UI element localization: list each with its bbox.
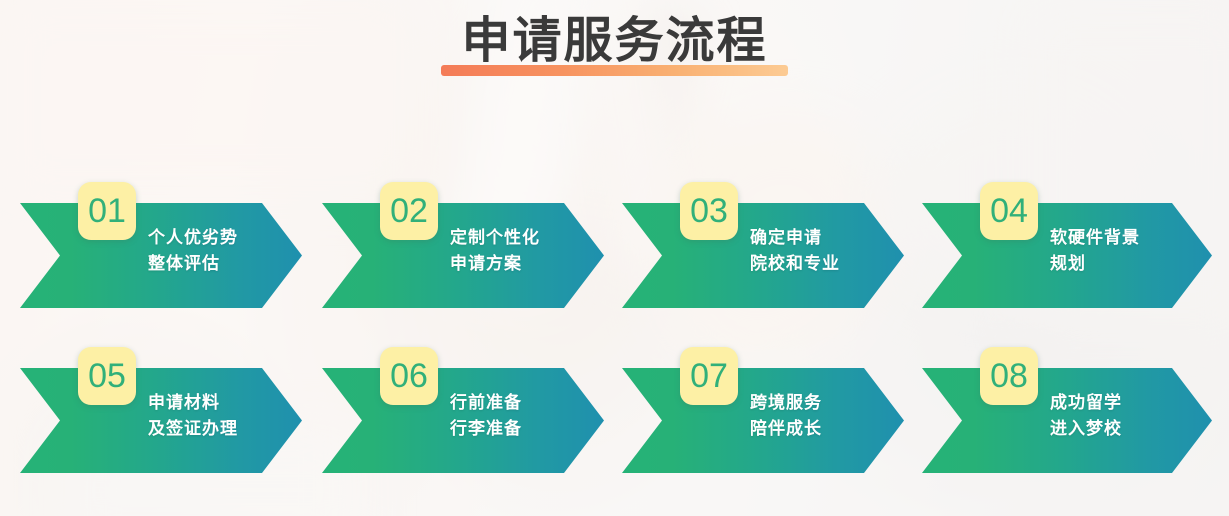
page-title: 申请服务流程 [453,17,775,76]
step-label-line-1: 成功留学 [1050,393,1122,412]
step-label: 软硬件背景 规划 [1050,225,1140,277]
flow-step-05[interactable]: 05 申请材料 及签证办理 [20,347,302,477]
step-number-badge: 08 [980,347,1038,405]
step-number: 08 [990,359,1028,393]
step-number: 07 [690,359,728,393]
step-number: 03 [690,194,728,228]
step-number-badge: 02 [380,182,438,240]
step-label: 申请材料 及签证办理 [148,390,238,442]
step-label-line-2: 规划 [1050,251,1140,277]
step-label: 个人优劣势 整体评估 [148,225,238,277]
step-number: 01 [88,194,126,228]
step-label-line-2: 行李准备 [450,416,522,442]
step-number-badge: 04 [980,182,1038,240]
step-number: 02 [390,194,428,228]
step-label-line-1: 个人优劣势 [148,228,238,247]
step-number: 06 [390,359,428,393]
flow-step-08[interactable]: 08 成功留学 进入梦校 [922,347,1212,477]
flow-step-01[interactable]: 01 个人优劣势 整体评估 [20,182,302,312]
step-label-line-2: 陪伴成长 [750,416,822,442]
step-number-badge: 05 [78,347,136,405]
step-label-line-2: 及签证办理 [148,416,238,442]
step-label: 跨境服务 陪伴成长 [750,390,822,442]
step-label-line-1: 申请材料 [148,393,220,412]
step-label-line-1: 跨境服务 [750,393,822,412]
step-label: 定制个性化 申请方案 [450,225,540,277]
flow-step-02[interactable]: 02 定制个性化 申请方案 [322,182,604,312]
step-label-line-2: 申请方案 [450,251,540,277]
step-label: 行前准备 行李准备 [450,390,522,442]
flow-row-2: 05 申请材料 及签证办理 06 行前准备 行李准备 07 跨境服务 陪伴成长 … [0,347,1229,477]
step-number: 04 [990,194,1028,228]
step-label: 成功留学 进入梦校 [1050,390,1122,442]
flow-step-03[interactable]: 03 确定申请 院校和专业 [622,182,904,312]
step-label-line-2: 进入梦校 [1050,416,1122,442]
step-number-badge: 06 [380,347,438,405]
step-number-badge: 07 [680,347,738,405]
step-label-line-2: 院校和专业 [750,251,840,277]
flow-step-07[interactable]: 07 跨境服务 陪伴成长 [622,347,904,477]
flow-step-06[interactable]: 06 行前准备 行李准备 [322,347,604,477]
title-block: 申请服务流程 [0,17,1229,76]
step-number-badge: 03 [680,182,738,240]
flow-step-04[interactable]: 04 软硬件背景 规划 [922,182,1212,312]
step-label-line-1: 确定申请 [750,228,822,247]
title-underline-bar [441,65,787,76]
step-label-line-1: 定制个性化 [450,228,540,247]
step-number-badge: 01 [78,182,136,240]
flow-row-1: 01 个人优劣势 整体评估 02 定制个性化 申请方案 03 确定申请 院校和专… [0,182,1229,312]
step-label-line-1: 软硬件背景 [1050,228,1140,247]
step-label-line-2: 整体评估 [148,251,238,277]
step-label: 确定申请 院校和专业 [750,225,840,277]
step-label-line-1: 行前准备 [450,393,522,412]
step-number: 05 [88,359,126,393]
page-title-text: 申请服务流程 [461,14,767,68]
